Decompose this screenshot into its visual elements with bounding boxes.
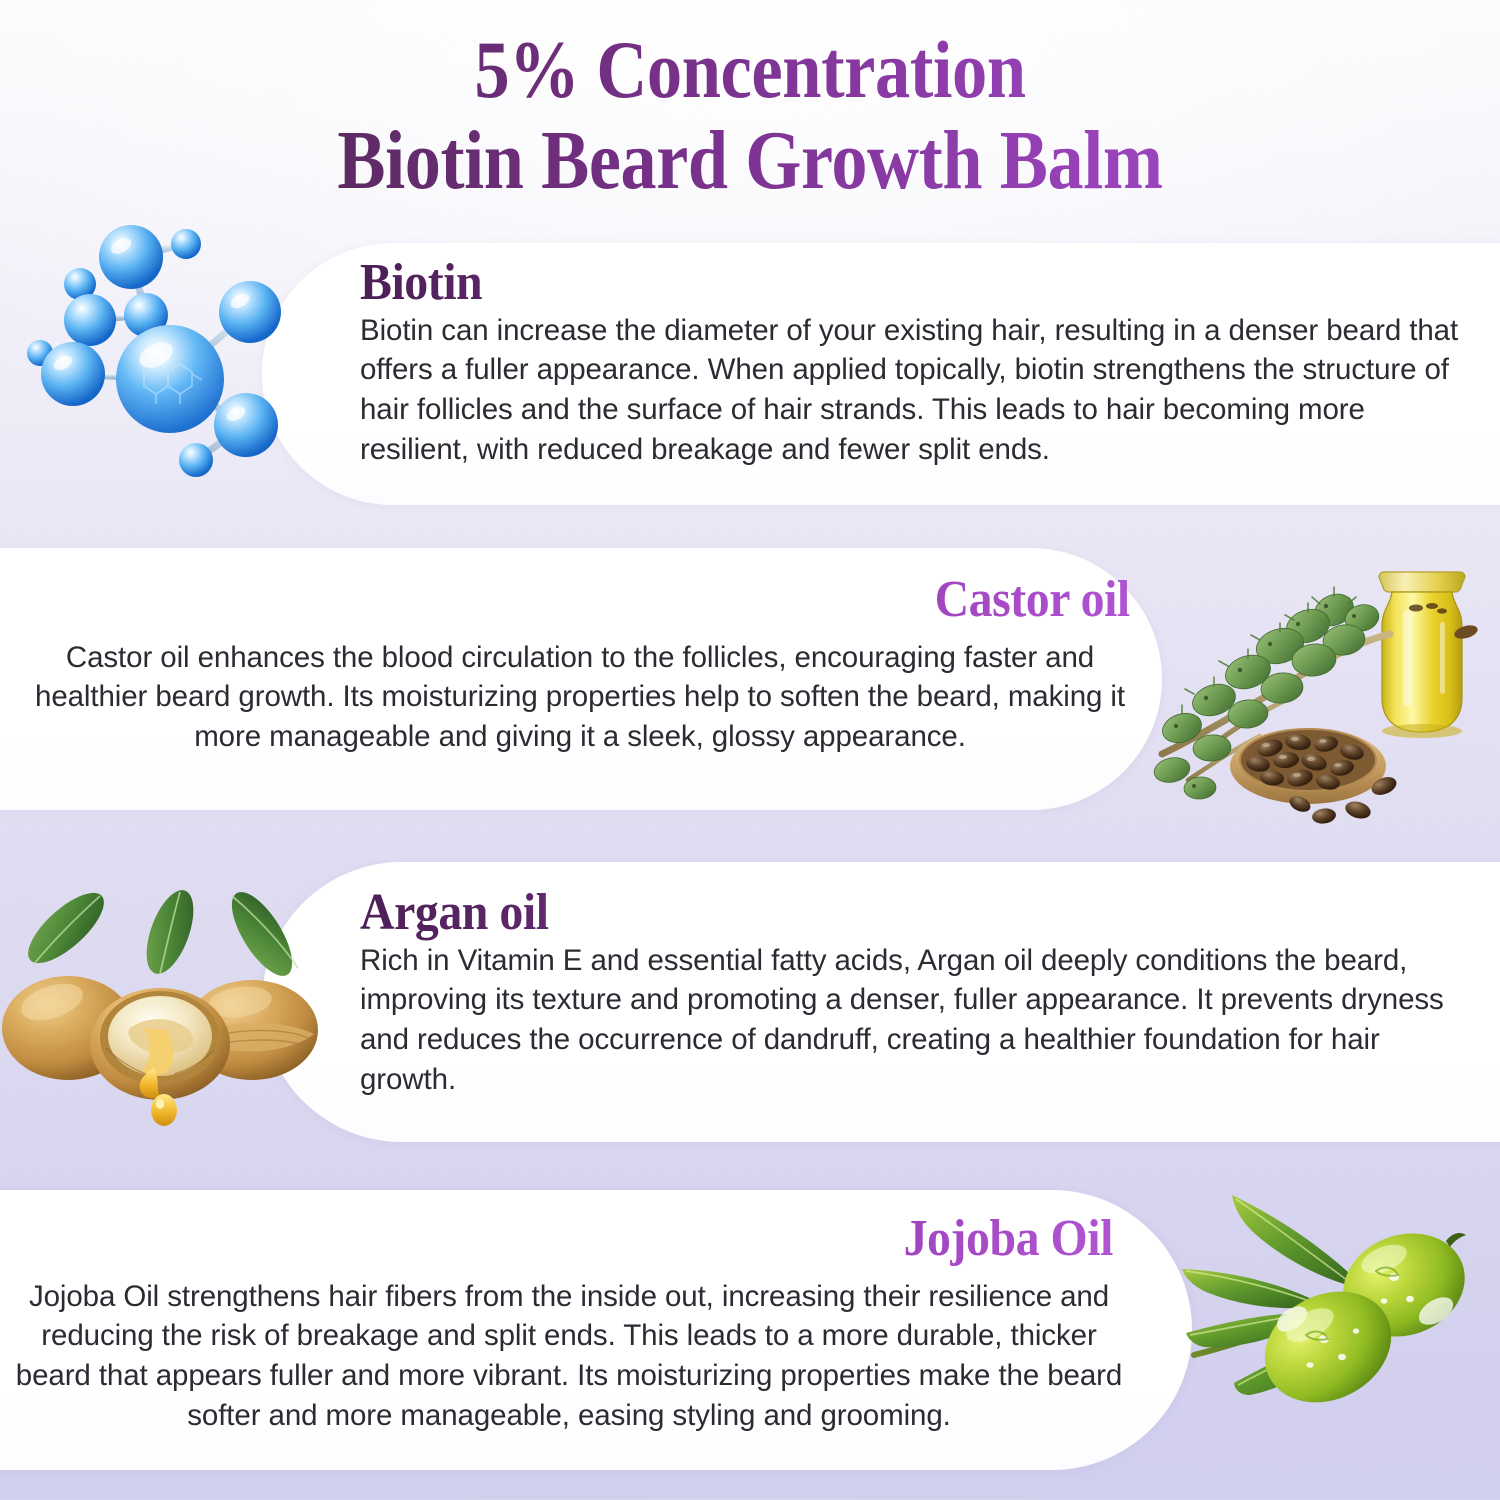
section-body-jojoba-oil: Jojoba Oil strengthens hair fibers from …	[14, 1277, 1124, 1436]
section-body-biotin: Biotin can increase the diameter of your…	[360, 311, 1480, 470]
section-jojoba-oil: Jojoba Oil Jojoba Oil strengthens hair f…	[14, 1212, 1124, 1435]
section-argan-oil: Argan oil Rich in Vitamin E and essentia…	[360, 886, 1475, 1099]
section-body-castor-oil: Castor oil enhances the blood circulatio…	[10, 638, 1150, 757]
olive-icon	[1178, 1185, 1500, 1453]
infographic-canvas: 5% Concentration Biotin Beard Growth Bal…	[0, 0, 1500, 1500]
section-heading-biotin: Biotin	[360, 256, 1390, 311]
section-body-argan-oil: Rich in Vitamin E and essential fatty ac…	[360, 941, 1475, 1100]
section-biotin: Biotin Biotin can increase the diameter …	[360, 256, 1480, 469]
section-heading-argan-oil: Argan oil	[360, 886, 1386, 941]
page-title: 5% Concentration Biotin Beard Growth Bal…	[0, 28, 1500, 203]
section-heading-jojoba-oil: Jojoba Oil	[103, 1212, 1124, 1267]
title-line-1: 5% Concentration	[105, 28, 1395, 112]
section-heading-castor-oil: Castor oil	[101, 573, 1150, 628]
section-castor-oil: Castor oil Castor oil enhances the blood…	[10, 573, 1150, 757]
title-line-2: Biotin Beard Growth Balm	[105, 118, 1395, 204]
castor-plant-icon	[1148, 548, 1500, 848]
